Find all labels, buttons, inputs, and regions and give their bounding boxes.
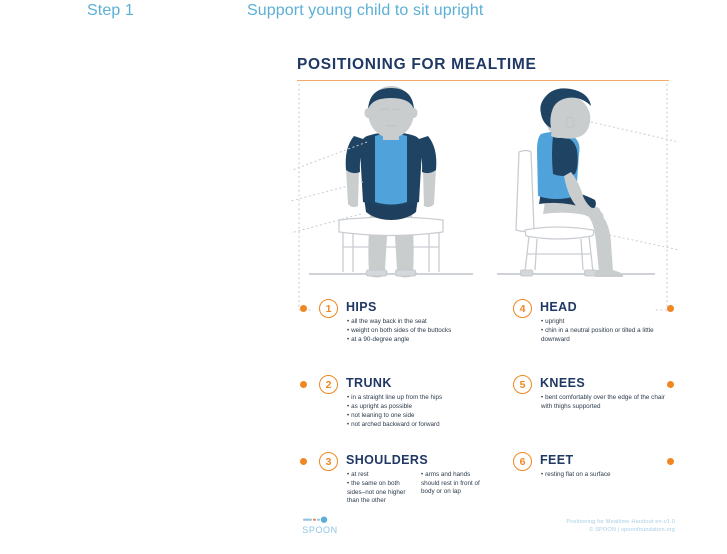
bullet: not leaning to one side [347, 412, 483, 421]
bullet: not arched backward or forward [347, 421, 483, 430]
callout-number-5: 5 [513, 375, 532, 394]
callout-number-3: 3 [319, 452, 338, 471]
credit-line-2: © SPOON | spoonfoundation.org [566, 526, 675, 534]
rail-dot-4 [667, 305, 674, 312]
callout-heading-hips: HIPS [346, 300, 377, 314]
handout-title: POSITIONING FOR MEALTIME [297, 56, 537, 74]
bullet: bent comfortably over the edge of the ch… [541, 394, 677, 411]
rail-dot-3 [300, 458, 307, 465]
callout-heading-feet: FEET [540, 453, 574, 467]
callout-bullets-knees: bent comfortably over the edge of the ch… [541, 394, 677, 412]
title-divider [297, 80, 669, 81]
rail-dot-1 [300, 305, 307, 312]
child-seated-side-view-illustration [479, 84, 679, 289]
callout-number-4: 4 [513, 299, 532, 318]
credit-line-1: Positioning for Mealtime Handout en-v1.0 [566, 518, 675, 526]
bullet: at a 90-degree angle [347, 336, 483, 345]
rail-dot-6 [667, 458, 674, 465]
step-label: Step 1 [87, 2, 134, 20]
spoon-logo: SPOON [297, 516, 343, 535]
bullet: resting flat on a surface [541, 471, 677, 480]
positioning-handout: POSITIONING FOR MEALTIME [283, 48, 683, 548]
callout-bullets-trunk: in a straight line up from the hips as u… [347, 394, 483, 430]
callout-bullets-feet: resting flat on a surface [541, 471, 677, 480]
bullet: chin in a neutral position or tilted a l… [541, 327, 677, 344]
callout-bullets-head: upright chin in a neutral position or ti… [541, 318, 677, 345]
callout-bullets-shoulders: at rest the same on both sides–not one h… [347, 471, 487, 506]
step-description: Support young child to sit upright [247, 2, 483, 20]
callout-number-6: 6 [513, 452, 532, 471]
handout-footer: SPOON Positioning for Mealtime Handout e… [283, 514, 683, 548]
callout-number-2: 2 [319, 375, 338, 394]
spoon-logo-text: SPOON [297, 525, 343, 535]
callout-heading-shoulders: SHOULDERS [346, 453, 428, 467]
bullet: weight on both sides of the buttocks [347, 327, 483, 336]
rail-dot-2 [300, 381, 307, 388]
rail-dot-5 [667, 381, 674, 388]
bullet: in a straight line up from the hips [347, 394, 483, 403]
spoon-logo-mark [297, 516, 343, 524]
bullet: the same on both sides–not one higher th… [347, 480, 413, 506]
callout-grid: 1 HIPS all the way back in the seat weig… [283, 291, 683, 511]
bullet: at rest [347, 471, 413, 480]
callout-bullets-hips: all the way back in the seat weight on b… [347, 318, 483, 345]
bullet: arms and hands should rest in front of b… [421, 471, 487, 497]
illustration-band [283, 84, 683, 289]
bullet: as upright as possible [347, 403, 483, 412]
callout-heading-trunk: TRUNK [346, 376, 392, 390]
child-seated-front-view-illustration [291, 84, 491, 289]
bullet: all the way back in the seat [347, 318, 483, 327]
handout-credit: Positioning for Mealtime Handout en-v1.0… [566, 518, 675, 534]
slide-header: Step 1 Support young child to sit uprigh… [0, 0, 727, 30]
callout-number-1: 1 [319, 299, 338, 318]
callout-heading-knees: KNEES [540, 376, 585, 390]
callout-heading-head: HEAD [540, 300, 577, 314]
bullet: upright [541, 318, 677, 327]
